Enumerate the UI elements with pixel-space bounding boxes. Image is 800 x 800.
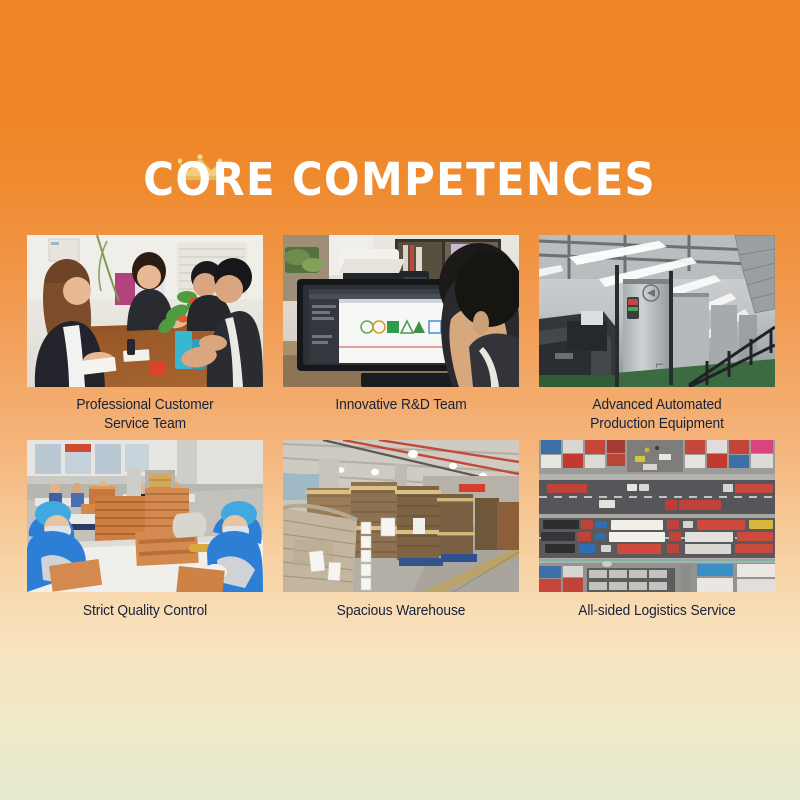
page-title: CORE COMPETENCES	[144, 150, 657, 210]
competence-card-all-sided-logistics-service[interactable]: All-sided Logistics Service	[539, 440, 775, 621]
competence-card-innovative-rd-team[interactable]: Innovative R&D Team	[283, 235, 519, 434]
caption-line-2: Service Team	[104, 416, 186, 432]
competence-card-professional-customer-service-team[interactable]: Professional Customer Service Team	[27, 235, 263, 434]
caption-strict-quality-control: Strict Quality Control	[33, 592, 257, 621]
page-title-block: CORE COMPETENCES	[0, 150, 800, 210]
photo-all-sided-logistics-service	[539, 440, 775, 592]
photo-innovative-rd-team	[283, 235, 519, 387]
caption-line-2: Production Equipment	[590, 416, 724, 432]
core-competences-banner: CORE COMPETENCES	[0, 0, 800, 800]
caption-spacious-warehouse: Spacious Warehouse	[289, 592, 513, 621]
caption-line-1: All-sided Logistics Service	[578, 603, 735, 619]
competence-grid: Professional Customer Service Team	[27, 235, 775, 621]
caption-line-1: Spacious Warehouse	[337, 603, 466, 619]
photo-spacious-warehouse	[283, 440, 519, 592]
caption-line-1: Professional Customer	[76, 397, 213, 413]
caption-line-1: Advanced Automated	[592, 397, 721, 413]
caption-all-sided-logistics-service: All-sided Logistics Service	[545, 592, 769, 621]
photo-professional-customer-service-team	[27, 235, 263, 387]
competence-card-spacious-warehouse[interactable]: Spacious Warehouse	[283, 440, 519, 621]
competence-card-advanced-automated-production-equipment[interactable]: LAND 800 LAND 800	[539, 235, 775, 434]
caption-innovative-rd-team: Innovative R&D Team	[289, 387, 513, 415]
caption-advanced-automated-production-equipment: Advanced Automated Production Equipment	[545, 387, 769, 434]
caption-line-1: Strict Quality Control	[83, 603, 207, 619]
caption-professional-customer-service-team: Professional Customer Service Team	[33, 387, 257, 434]
photo-advanced-automated-production-equipment: LAND 800 LAND 800	[539, 235, 775, 387]
competence-card-strict-quality-control[interactable]: Strict Quality Control	[27, 440, 263, 621]
photo-strict-quality-control	[27, 440, 263, 592]
caption-line-1: Innovative R&D Team	[335, 397, 466, 413]
